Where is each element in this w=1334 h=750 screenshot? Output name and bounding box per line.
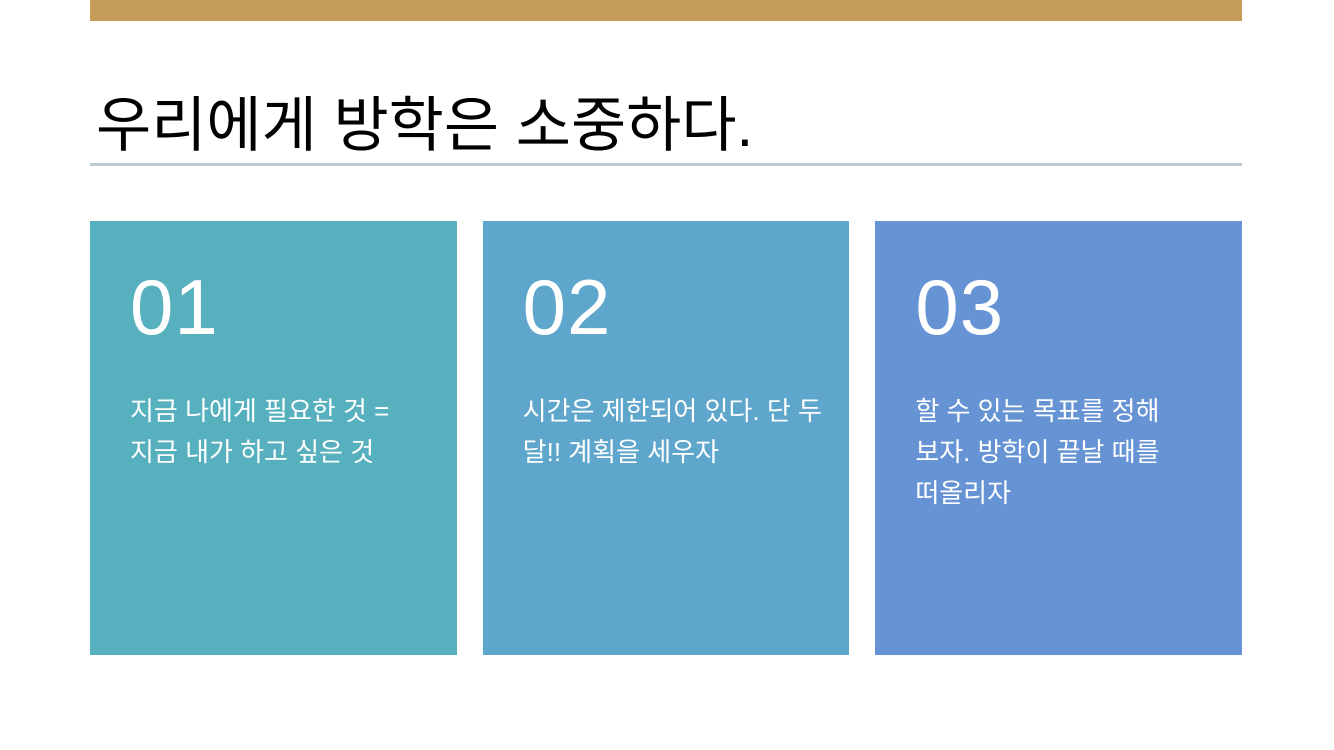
- title-divider: [90, 163, 1242, 166]
- card-body-03: 할 수 있는 목표를 정해 보자. 방학이 끝날 때를 떠올리자: [915, 391, 1215, 514]
- slide-canvas: 우리에게 방학은 소중하다. 01 지금 나에게 필요한 것 = 지금 내가 하…: [0, 0, 1334, 750]
- card-01[interactable]: 01 지금 나에게 필요한 것 = 지금 내가 하고 싶은 것: [90, 221, 457, 655]
- card-number-02: 02: [523, 265, 814, 349]
- card-body-01: 지금 나에게 필요한 것 = 지금 내가 하고 싶은 것: [130, 391, 430, 473]
- card-number-01: 01: [130, 265, 421, 349]
- card-03[interactable]: 03 할 수 있는 목표를 정해 보자. 방학이 끝날 때를 떠올리자: [875, 221, 1242, 655]
- card-02[interactable]: 02 시간은 제한되어 있다. 단 두 달!! 계획을 세우자: [483, 221, 850, 655]
- card-body-02: 시간은 제한되어 있다. 단 두 달!! 계획을 세우자: [523, 391, 823, 473]
- page-title: 우리에게 방학은 소중하다.: [96, 88, 1246, 164]
- card-number-03: 03: [915, 265, 1206, 349]
- top-accent-bar: [90, 0, 1242, 21]
- cards-row: 01 지금 나에게 필요한 것 = 지금 내가 하고 싶은 것 02 시간은 제…: [90, 221, 1242, 655]
